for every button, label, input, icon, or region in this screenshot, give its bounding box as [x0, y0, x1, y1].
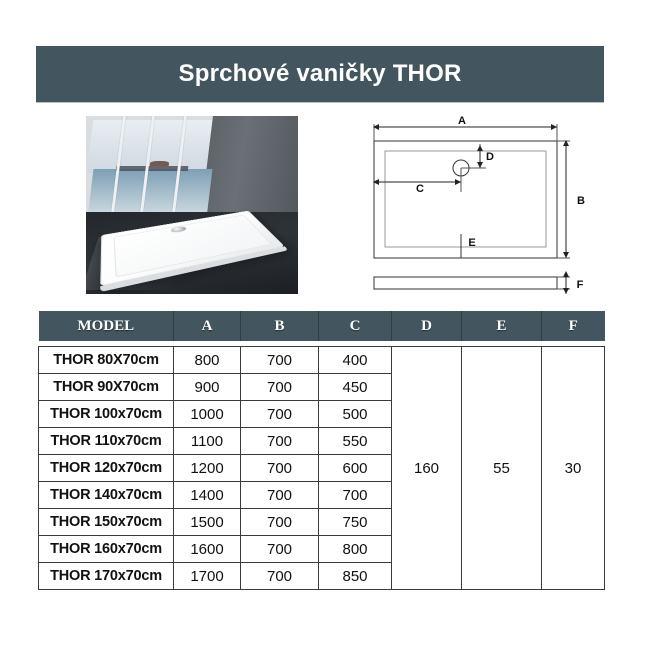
- technical-drawing: A B C D E F: [358, 112, 610, 300]
- cell-c: 450: [319, 374, 392, 401]
- table-row: THOR 80X70cm 800 700 400 160 55 30: [39, 347, 605, 374]
- table-body: THOR 80X70cm 800 700 400 160 55 30 THOR …: [39, 341, 605, 590]
- dimension-label-e: E: [468, 237, 475, 249]
- cell-a: 800: [174, 347, 241, 374]
- cell-model: THOR 110x70cm: [39, 428, 174, 455]
- product-spec-page: Sprchové vaničky THOR: [0, 0, 650, 650]
- product-photo: [86, 116, 298, 294]
- dimension-label-f: F: [577, 279, 584, 291]
- cell-model: THOR 150x70cm: [39, 509, 174, 536]
- column-header-c: C: [319, 311, 392, 341]
- cell-a: 1000: [174, 401, 241, 428]
- cell-a: 1600: [174, 536, 241, 563]
- title-banner: Sprchové vaničky THOR: [36, 46, 604, 102]
- dimension-label-c: C: [416, 183, 424, 195]
- cell-b: 700: [241, 428, 319, 455]
- dimension-label-a: A: [458, 115, 466, 127]
- cell-a: 1200: [174, 455, 241, 482]
- cell-b: 700: [241, 482, 319, 509]
- column-header-e: E: [462, 311, 542, 341]
- table-header: MODEL A B C D E F: [39, 311, 605, 341]
- column-header-model: MODEL: [39, 311, 174, 341]
- cell-model: THOR 100x70cm: [39, 401, 174, 428]
- cell-b: 700: [241, 455, 319, 482]
- column-header-d: D: [392, 311, 462, 341]
- cell-f-merged: 30: [542, 347, 605, 590]
- cell-e-merged: 55: [462, 347, 542, 590]
- cell-model: THOR 80X70cm: [39, 347, 174, 374]
- cell-b: 700: [241, 347, 319, 374]
- column-header-b: B: [241, 311, 319, 341]
- photo-harbor-building: [149, 161, 169, 166]
- cell-c: 400: [319, 347, 392, 374]
- cell-a: 1400: [174, 482, 241, 509]
- cell-b: 700: [241, 536, 319, 563]
- cell-a: 1700: [174, 563, 241, 590]
- cell-c: 800: [319, 536, 392, 563]
- cell-c: 750: [319, 509, 392, 536]
- cell-model: THOR 160x70cm: [39, 536, 174, 563]
- cell-b: 700: [241, 563, 319, 590]
- cell-b: 700: [241, 509, 319, 536]
- page-title: Sprchové vaničky THOR: [179, 60, 462, 88]
- cell-model: THOR 90X70cm: [39, 374, 174, 401]
- cell-c: 500: [319, 401, 392, 428]
- cell-c: 600: [319, 455, 392, 482]
- specification-table: MODEL A B C D E F THOR 80X70cm 800 700: [38, 311, 604, 590]
- cell-model: THOR 120x70cm: [39, 455, 174, 482]
- dimension-label-b: B: [577, 195, 585, 207]
- cell-a: 900: [174, 374, 241, 401]
- cell-c: 550: [319, 428, 392, 455]
- cell-a: 1500: [174, 509, 241, 536]
- cell-a: 1100: [174, 428, 241, 455]
- column-header-a: A: [174, 311, 241, 341]
- cell-c: 700: [319, 482, 392, 509]
- cell-model: THOR 140x70cm: [39, 482, 174, 509]
- spec-table: MODEL A B C D E F THOR 80X70cm 800 700: [38, 311, 605, 590]
- table-header-row: MODEL A B C D E F: [39, 311, 605, 341]
- cell-b: 700: [241, 374, 319, 401]
- column-header-f: F: [542, 311, 605, 341]
- dimension-label-d: D: [486, 151, 494, 163]
- cell-c: 850: [319, 563, 392, 590]
- cell-d-merged: 160: [392, 347, 462, 590]
- cell-b: 700: [241, 401, 319, 428]
- cell-model: THOR 170x70cm: [39, 563, 174, 590]
